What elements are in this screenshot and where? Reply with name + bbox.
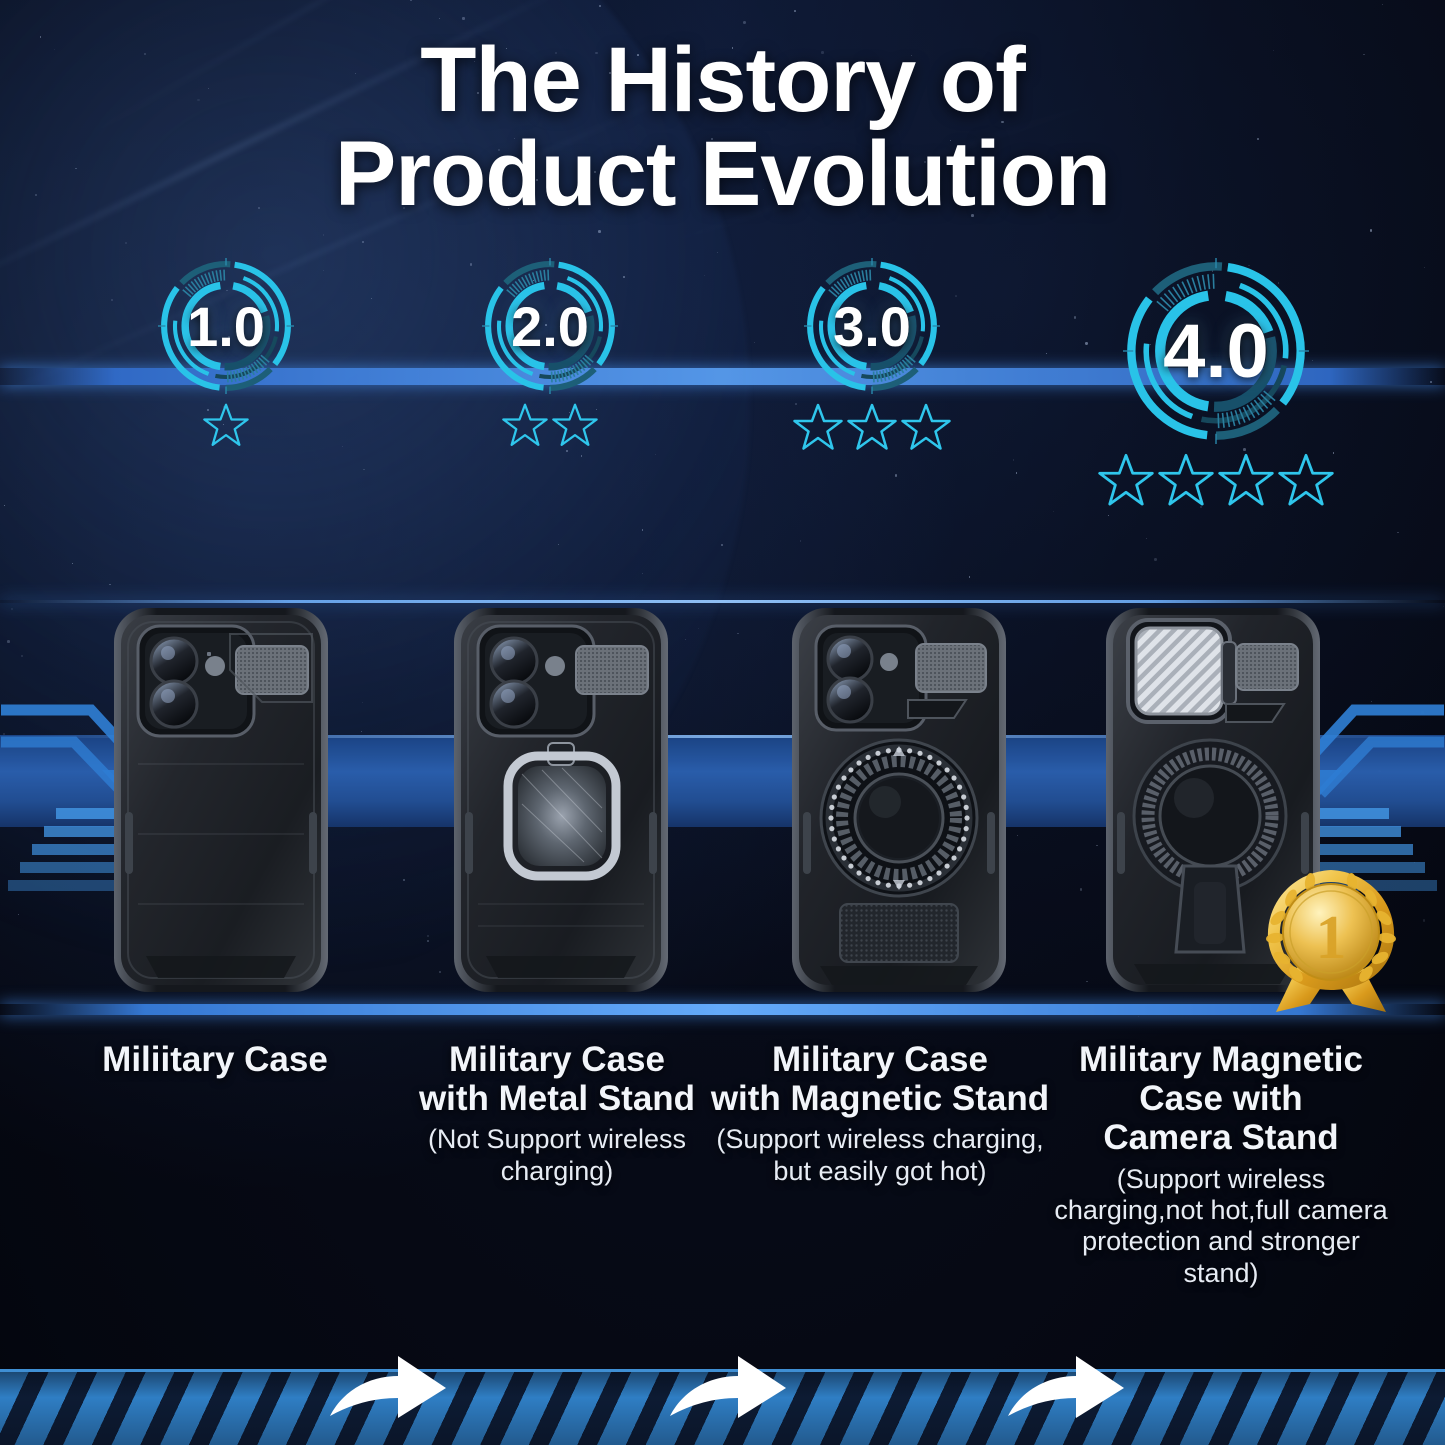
star-icon: [901, 402, 951, 452]
version-badge-3: 3.0: [762, 258, 982, 452]
version-label: 2.0: [482, 258, 618, 394]
version-label: 3.0: [804, 258, 940, 394]
hud-ring-icon: 4.0: [1123, 258, 1309, 444]
product-title-line: Military Case: [708, 1040, 1052, 1079]
product-title-line: with Metal Stand: [392, 1079, 722, 1118]
product-label-3: Military Casewith Magnetic Stand (Suppor…: [708, 1040, 1052, 1187]
product-title-line: with Magnetic Stand: [708, 1079, 1052, 1118]
title-line-2: Product Evolution: [0, 128, 1445, 222]
version-badge-row: 1.0 2.0 3.0 4.0: [0, 258, 1445, 558]
star-rating: [1088, 452, 1344, 508]
product-label-4: Military MagneticCase withCamera Stand (…: [1042, 1040, 1400, 1289]
star-icon: [502, 402, 548, 448]
title-line-1: The History of: [0, 34, 1445, 128]
version-label: 1.0: [158, 258, 294, 394]
star-icon: [552, 402, 598, 448]
infographic-canvas: The History of Product Evolution 1.0 2.0…: [0, 0, 1445, 1445]
product-title-line: Camera Stand: [1042, 1118, 1400, 1157]
page-title: The History of Product Evolution: [0, 34, 1445, 222]
product-title-line: Miliitary Case: [40, 1040, 390, 1079]
section-divider-line: [0, 1004, 1445, 1015]
product-label-2: Military Casewith Metal Stand (Not Suppo…: [392, 1040, 722, 1187]
product-label-row: Miliitary Case Military Casewith Metal S…: [0, 1040, 1445, 1370]
version-badge-2: 2.0: [440, 258, 660, 448]
star-rating: [762, 402, 982, 452]
star-icon: [793, 402, 843, 452]
product-title: Military MagneticCase withCamera Stand: [1042, 1040, 1400, 1158]
product-title-line: Case with: [1042, 1079, 1400, 1118]
version-badge-1: 1.0: [116, 258, 336, 448]
product-subtitle: (Support wireless charging, but easily g…: [708, 1124, 1052, 1187]
product-image-2: [452, 604, 670, 1001]
product-label-1: Miliitary Case: [40, 1040, 390, 1079]
star-icon: [1158, 452, 1214, 508]
product-image-row: [0, 600, 1445, 1004]
medal-rank: 1: [1316, 904, 1347, 972]
star-rating: [116, 402, 336, 448]
product-title-line: Military Magnetic: [1042, 1040, 1400, 1079]
product-title: Miliitary Case: [40, 1040, 390, 1079]
hud-ring-icon: 2.0: [482, 258, 618, 394]
hud-ring-icon: 3.0: [804, 258, 940, 394]
product-subtitle: (Not Support wireless charging): [392, 1124, 722, 1187]
hud-ring-icon: 1.0: [158, 258, 294, 394]
product-image-3: [790, 604, 1008, 1001]
star-icon: [1218, 452, 1274, 508]
version-label: 4.0: [1123, 258, 1309, 444]
product-subtitle: (Support wireless charging,not hot,full …: [1042, 1164, 1400, 1289]
product-title: Military Casewith Metal Stand: [392, 1040, 722, 1118]
gold-medal-icon: 1: [1258, 862, 1408, 1027]
star-rating: [440, 402, 660, 448]
star-icon: [847, 402, 897, 452]
star-icon: [1278, 452, 1334, 508]
star-icon: [1098, 452, 1154, 508]
product-image-1: [112, 604, 330, 1001]
product-title: Military Casewith Magnetic Stand: [708, 1040, 1052, 1118]
product-title-line: Military Case: [392, 1040, 722, 1079]
version-badge-4: 4.0: [1088, 258, 1344, 508]
star-icon: [203, 402, 249, 448]
